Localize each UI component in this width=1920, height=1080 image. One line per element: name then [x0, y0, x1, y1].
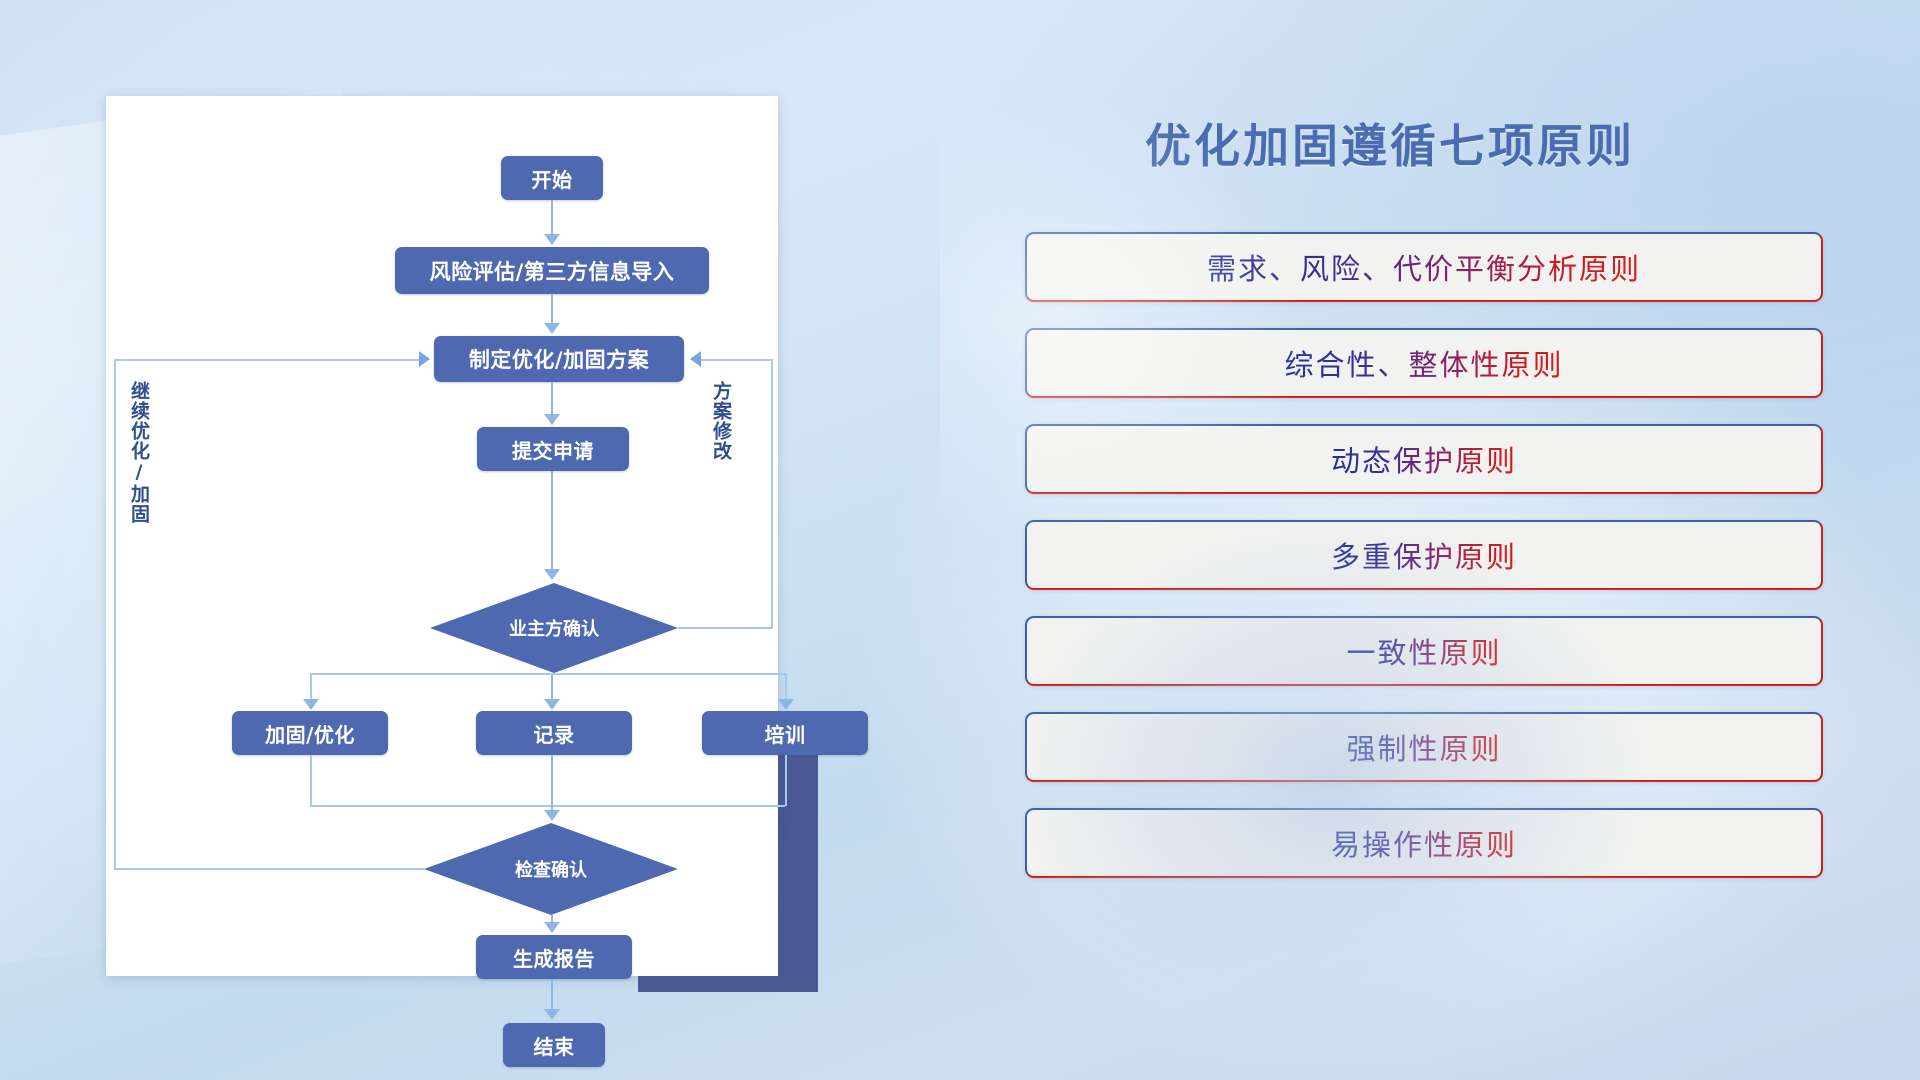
- connector-training-down: [785, 755, 787, 806]
- principles-list: 需求、风险、代价平衡分析原则 综合性、整体性原则 动态保护原则 多重保护原则 一…: [1025, 232, 1823, 878]
- arrow-left-loop-to-plan-icon: [419, 351, 430, 367]
- connector-left-loop-vertical: [114, 359, 116, 869]
- flow-node-generate-report[interactable]: 生成报告: [476, 935, 632, 979]
- flow-node-reinforce-label: 加固/优化: [265, 719, 355, 748]
- arrow-check-to-report-icon: [544, 922, 560, 933]
- connector-plan-to-submit: [551, 382, 553, 414]
- principle-item-1-label: 需求、风险、代价平衡分析原则: [1207, 246, 1641, 288]
- principles-panel-title: 优化加固遵循七项原则: [1010, 110, 1770, 176]
- principle-item-4[interactable]: 多重保护原则: [1025, 520, 1823, 590]
- flow-node-make-plan-label: 制定优化/加固方案: [469, 344, 649, 374]
- principle-item-7-label: 易操作性原则: [1331, 822, 1517, 864]
- connector-reinforce-down: [310, 755, 312, 806]
- connector-fanout-bus: [310, 673, 785, 675]
- principle-item-5[interactable]: 一致性原则: [1025, 616, 1823, 686]
- arrow-to-training-icon: [778, 699, 794, 710]
- arrow-right-loop-to-plan-icon: [690, 351, 701, 367]
- principle-item-2[interactable]: 综合性、整体性原则: [1025, 328, 1823, 398]
- principle-item-1[interactable]: 需求、风险、代价平衡分析原则: [1025, 232, 1823, 302]
- flow-node-start-label: 开始: [532, 164, 573, 193]
- principle-item-5-label: 一致性原则: [1346, 630, 1501, 672]
- flow-node-generate-report-label: 生成报告: [513, 943, 595, 972]
- flow-node-reinforce[interactable]: 加固/优化: [232, 711, 388, 755]
- connector-start-to-risk: [551, 200, 553, 236]
- connector-submit-to-owner: [551, 471, 553, 569]
- principle-item-6[interactable]: 强制性原则: [1025, 712, 1823, 782]
- flow-node-risk-assessment-label: 风险评估/第三方信息导入: [430, 256, 675, 286]
- flow-node-submit-application-label: 提交申请: [512, 435, 594, 464]
- flowchart-canvas: 开始 风险评估/第三方信息导入 制定优化/加固方案 提交申请 业主方确认 加固/…: [106, 96, 778, 976]
- flow-decision-check-confirm-label: 检查确认: [515, 856, 587, 882]
- principle-item-3[interactable]: 动态保护原则: [1025, 424, 1823, 494]
- flow-decision-owner-confirm-label: 业主方确认: [509, 615, 599, 641]
- connector-record-to-check: [551, 755, 553, 810]
- principle-item-7[interactable]: 易操作性原则: [1025, 808, 1823, 878]
- principle-item-6-label: 强制性原则: [1346, 726, 1501, 768]
- flow-node-training-label: 培训: [765, 719, 806, 748]
- flow-node-record[interactable]: 记录: [476, 711, 632, 755]
- connector-left-loop-top: [114, 359, 419, 361]
- connector-right-loop-vertical: [771, 359, 773, 629]
- flow-node-end-label: 结束: [534, 1031, 575, 1060]
- flow-edge-label-left-loop: 继续优化/加固: [128, 381, 148, 524]
- principle-item-3-label: 动态保护原则: [1331, 438, 1517, 480]
- flow-node-end[interactable]: 结束: [503, 1023, 605, 1067]
- flow-node-make-plan[interactable]: 制定优化/加固方案: [434, 336, 684, 382]
- flow-node-submit-application[interactable]: 提交申请: [477, 427, 629, 471]
- flow-node-risk-assessment[interactable]: 风险评估/第三方信息导入: [395, 247, 709, 294]
- connector-left-loop-bottom: [114, 868, 426, 870]
- arrow-plan-to-submit-icon: [544, 414, 560, 425]
- arrow-to-reinforce-icon: [303, 699, 319, 710]
- flow-decision-check-confirm[interactable]: 检查确认: [424, 823, 678, 915]
- connector-right-loop-top: [701, 359, 773, 361]
- flowchart-card: 开始 风险评估/第三方信息导入 制定优化/加固方案 提交申请 业主方确认 加固/…: [106, 96, 778, 976]
- connector-fanin-bus: [310, 805, 785, 807]
- slide-canvas: 开始 风险评估/第三方信息导入 制定优化/加固方案 提交申请 业主方确认 加固/…: [0, 0, 1920, 1080]
- connector-fanout-right-drop: [785, 673, 787, 701]
- connector-fanout-left-drop: [310, 673, 312, 701]
- connector-right-loop-bottom: [678, 627, 773, 629]
- arrow-report-to-end-icon: [544, 1009, 560, 1020]
- principle-item-2-label: 综合性、整体性原则: [1284, 342, 1563, 384]
- flow-decision-owner-confirm[interactable]: 业主方确认: [430, 583, 678, 673]
- arrow-to-record-icon: [544, 699, 560, 710]
- arrow-start-to-risk-icon: [544, 234, 560, 245]
- arrow-risk-to-plan-icon: [544, 323, 560, 334]
- flow-node-record-label: 记录: [534, 719, 575, 748]
- connector-check-to-report: [551, 915, 553, 922]
- flow-node-start[interactable]: 开始: [501, 156, 603, 200]
- connector-report-to-end: [551, 979, 553, 1010]
- arrow-submit-to-owner-icon: [544, 569, 560, 580]
- arrow-to-check-icon: [544, 810, 560, 821]
- connector-risk-to-plan: [551, 294, 553, 324]
- flow-node-training[interactable]: 培训: [702, 711, 868, 755]
- flow-edge-label-right-loop: 方案修改: [710, 381, 730, 461]
- principle-item-4-label: 多重保护原则: [1331, 534, 1517, 576]
